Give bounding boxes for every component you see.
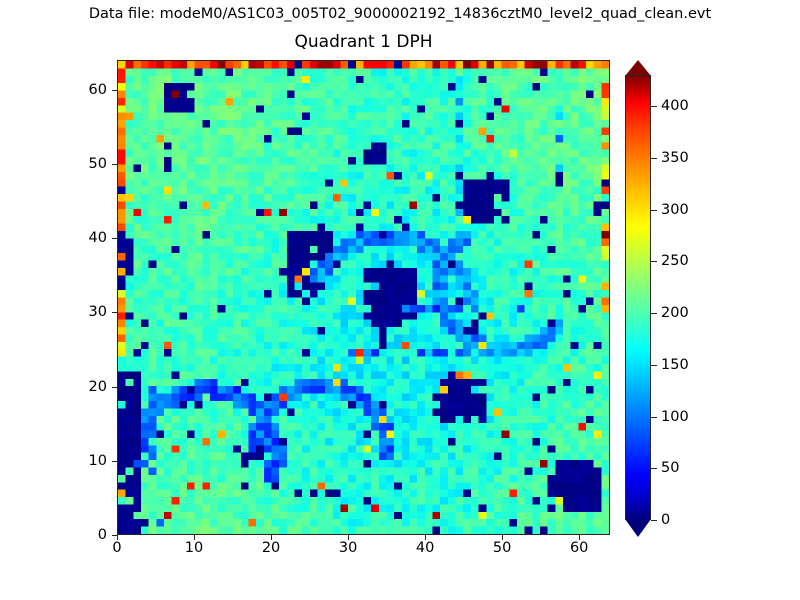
y-tick-label: 20 (57, 379, 107, 395)
y-tick-mark (112, 387, 117, 388)
y-tick-mark (112, 312, 117, 313)
colorbar-tick-label: 100 (661, 409, 689, 425)
colorbar-tick-label: 200 (661, 305, 689, 321)
colorbar-tick-label: 250 (661, 253, 689, 269)
x-tick-label: 20 (262, 540, 280, 556)
y-tick-label: 60 (57, 82, 107, 98)
colorbar-tick-mark (651, 520, 657, 521)
x-tick-label: 50 (493, 540, 511, 556)
heatmap-image[interactable] (118, 61, 609, 534)
colorbar-tick-mark (651, 468, 657, 469)
colorbar[interactable]: 050100150200250300350400 (625, 60, 745, 535)
page-title: Quadrant 1 DPH (117, 32, 610, 52)
y-tick-label: 10 (57, 453, 107, 469)
y-tick-label: 40 (57, 230, 107, 246)
colorbar-tick-label: 50 (661, 460, 679, 476)
colorbar-tick-mark (651, 417, 657, 418)
colorbar-tick-mark (651, 365, 657, 366)
y-tick-mark (112, 535, 117, 536)
y-tick-label: 50 (57, 156, 107, 172)
y-tick-mark (112, 90, 117, 91)
colorbar-tick-mark (651, 210, 657, 211)
y-tick-mark (112, 238, 117, 239)
y-tick-mark (112, 164, 117, 165)
x-tick-label: 0 (112, 540, 121, 556)
colorbar-tick-label: 0 (661, 512, 670, 528)
colorbar-tick-label: 150 (661, 357, 689, 373)
colorbar-gradient[interactable] (625, 75, 651, 520)
colorbar-tick-mark (651, 313, 657, 314)
colorbar-over-arrow-icon (625, 60, 651, 76)
colorbar-under-arrow-icon (625, 519, 651, 537)
datafile-label: Data file: modeM0/AS1C03_005T02_90000021… (0, 6, 800, 22)
y-tick-mark (112, 461, 117, 462)
colorbar-tick-mark (651, 261, 657, 262)
figure-canvas: Data file: modeM0/AS1C03_005T02_90000021… (0, 0, 800, 600)
colorbar-tick-mark (651, 106, 657, 107)
y-tick-label: 0 (57, 527, 107, 543)
heatmap-axes[interactable] (117, 60, 610, 535)
colorbar-tick-label: 350 (661, 150, 689, 166)
y-tick-label: 30 (57, 304, 107, 320)
x-tick-label: 40 (416, 540, 434, 556)
x-tick-label: 10 (185, 540, 203, 556)
colorbar-tick-label: 400 (661, 98, 689, 114)
colorbar-tick-label: 300 (661, 202, 689, 218)
colorbar-tick-mark (651, 158, 657, 159)
x-tick-label: 30 (339, 540, 357, 556)
x-tick-label: 60 (570, 540, 588, 556)
